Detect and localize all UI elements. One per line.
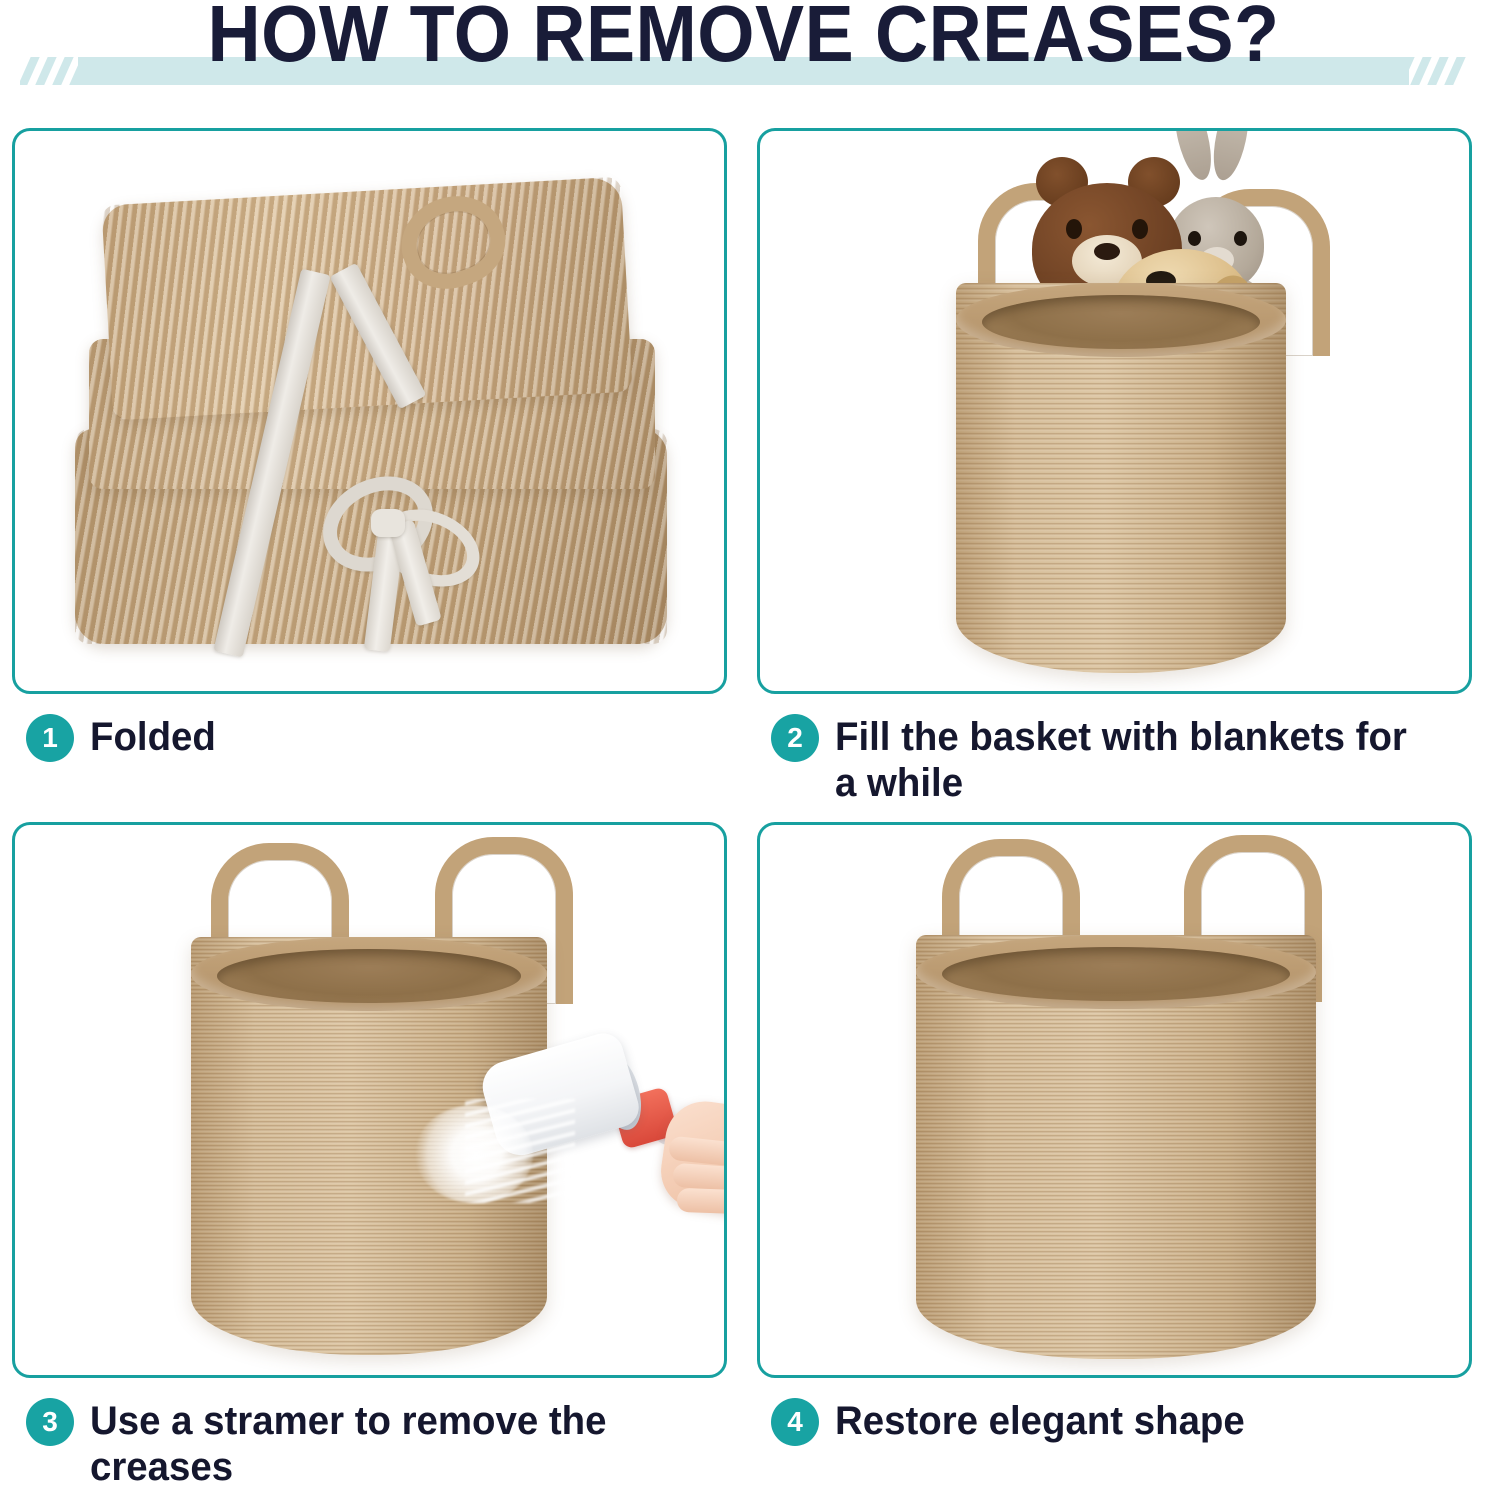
rope-basket xyxy=(956,283,1286,673)
steps-row-bottom: 3 Use a stramer to remove the creases xyxy=(0,822,1487,1490)
step-cell-3: 3 Use a stramer to remove the creases xyxy=(0,822,743,1490)
step-cell-4: 4 Restore elegant shape xyxy=(743,822,1486,1490)
step-2-image-panel: YORK xyxy=(757,128,1472,694)
step-3-label: Use a stramer to remove the creases xyxy=(90,1398,685,1490)
steam-puff xyxy=(415,1105,533,1203)
title-header: HOW TO REMOVE CREASES? xyxy=(0,0,1487,112)
step-1-number-badge: 1 xyxy=(26,714,74,762)
step-3-image-panel xyxy=(12,822,727,1378)
finger-3 xyxy=(677,1188,727,1214)
rope-basket-opening-3 xyxy=(217,949,521,1003)
rope-basket-4 xyxy=(916,935,1316,1359)
steps-grid: 1 Folded YORK xyxy=(0,128,1487,1490)
teddy-bear-eye-right xyxy=(1132,219,1148,239)
step-4-caption: 4 Restore elegant shape xyxy=(757,1378,1472,1446)
basket-with-toys-illustration: YORK xyxy=(760,131,1469,691)
step-cell-2: YORK xyxy=(743,128,1486,806)
bunny-eye-right xyxy=(1234,231,1247,246)
step-1-label: Folded xyxy=(90,714,216,760)
step-1-image-panel xyxy=(12,128,727,694)
ribbon-knot xyxy=(371,509,405,537)
rope-basket-opening xyxy=(982,295,1260,349)
step-3-caption: 3 Use a stramer to remove the creases xyxy=(12,1378,727,1490)
rope-basket-opening-4 xyxy=(942,947,1290,1001)
step-4-label: Restore elegant shape xyxy=(835,1398,1245,1444)
step-cell-1: 1 Folded xyxy=(0,128,743,806)
step-4-image-panel xyxy=(757,822,1472,1378)
finger-2 xyxy=(672,1163,727,1192)
step-4-number-badge: 4 xyxy=(771,1398,819,1446)
step-3-number-badge: 3 xyxy=(26,1398,74,1446)
step-2-caption: 2 Fill the basket with blankets for a wh… xyxy=(757,694,1472,806)
step-1-caption: 1 Folded xyxy=(12,694,727,762)
teddy-bear-eye-left xyxy=(1066,219,1082,239)
steps-row-top: 1 Folded YORK xyxy=(0,128,1487,806)
folded-blanket-illustration xyxy=(15,131,724,691)
garment-steamer xyxy=(487,1047,727,1247)
empty-basket-illustration xyxy=(760,825,1469,1375)
step-2-label: Fill the basket with blankets for a whil… xyxy=(835,714,1430,806)
bunny-ear-right xyxy=(1207,128,1254,183)
page-title: HOW TO REMOVE CREASES? xyxy=(59,0,1427,74)
step-2-number-badge: 2 xyxy=(771,714,819,762)
steamer-on-basket-illustration xyxy=(15,825,724,1375)
